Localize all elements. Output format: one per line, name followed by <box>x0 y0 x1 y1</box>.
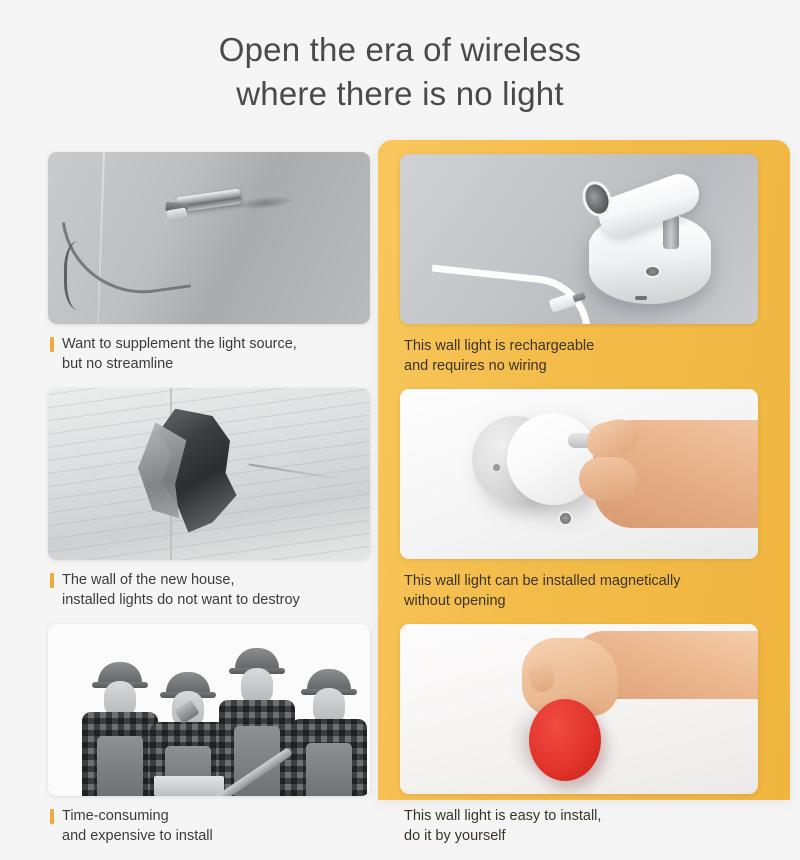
page-title: Open the era of wireless where there is … <box>0 28 800 116</box>
solution-caption-text-1: This wall light is rechargeable and requ… <box>404 336 594 376</box>
caption-marker-icon <box>50 337 54 352</box>
problem-caption-1: Want to supplement the light source, but… <box>48 324 370 374</box>
problem-caption-3: Time-consuming and expensive to install <box>48 796 370 846</box>
rechargeable-wall-light-product-photo <box>400 154 758 324</box>
solution-caption-text-3: This wall light is easy to install, do i… <box>404 806 601 846</box>
problem-item-2: The wall of the new house, installed lig… <box>48 388 370 610</box>
clamp-light-on-wall-photo <box>48 152 370 324</box>
problem-caption-text-2: The wall of the new house, installed lig… <box>62 570 300 610</box>
magnetic-installation-hand-photo <box>400 389 758 559</box>
solution-item-3: This wall light is easy to install, do i… <box>400 624 758 846</box>
damaged-wall-photo <box>48 388 370 560</box>
problem-item-3: Time-consuming and expensive to install <box>48 624 370 846</box>
infographic-page: Open the era of wireless where there is … <box>0 0 800 800</box>
page-title-line-1: Open the era of wireless <box>0 28 800 72</box>
caption-marker-icon <box>50 573 54 588</box>
problems-column: Want to supplement the light source, but… <box>48 152 370 860</box>
problem-caption-text-1: Want to supplement the light source, but… <box>62 334 297 374</box>
problem-caption-text-3: Time-consuming and expensive to install <box>62 806 213 846</box>
problem-caption-2: The wall of the new house, installed lig… <box>48 560 370 610</box>
solutions-column: This wall light is rechargeable and requ… <box>400 154 758 859</box>
construction-workers-photo <box>48 624 370 796</box>
caption-marker-icon <box>50 809 54 824</box>
solution-item-1: This wall light is rechargeable and requ… <box>400 154 758 376</box>
solution-caption-3: This wall light is easy to install, do i… <box>400 794 758 846</box>
solution-caption-2: This wall light can be installed magneti… <box>400 559 758 611</box>
problem-item-1: Want to supplement the light source, but… <box>48 152 370 374</box>
adhesive-disc-install-photo <box>400 624 758 794</box>
solution-item-2: This wall light can be installed magneti… <box>400 389 758 611</box>
solution-caption-1: This wall light is rechargeable and requ… <box>400 324 758 376</box>
solution-caption-text-2: This wall light can be installed magneti… <box>404 571 680 611</box>
page-title-line-2: where there is no light <box>0 72 800 116</box>
